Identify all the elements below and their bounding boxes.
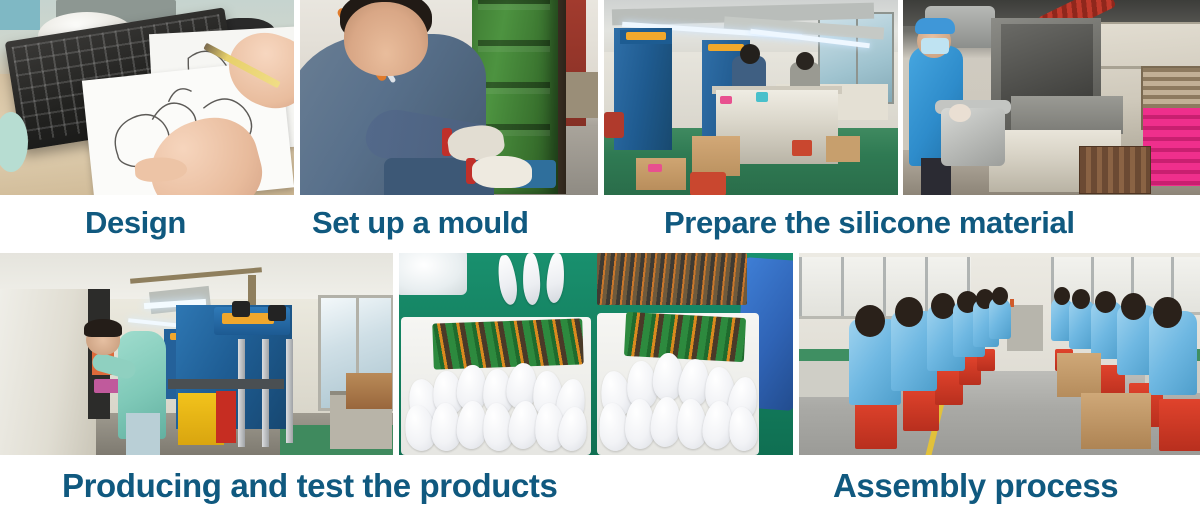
- operator-face-mask: [921, 38, 949, 54]
- monitor-screen-edge: [0, 0, 40, 30]
- photo-assembly-line[interactable]: [799, 253, 1200, 455]
- supply-cart: [1007, 305, 1043, 351]
- wooden-pallet: [346, 373, 392, 409]
- red-equipment: [604, 112, 624, 138]
- photo-producing-testing[interactable]: [0, 253, 393, 455]
- worker-head: [931, 293, 955, 319]
- cyan-part-bench: [756, 92, 768, 102]
- carton-near: [636, 158, 686, 190]
- caption-band-row1: Design Set up a mould Prepare the silico…: [0, 195, 1200, 253]
- machine-tray: [1011, 96, 1123, 134]
- worker-hair: [84, 319, 122, 337]
- worker-head: [1072, 289, 1090, 309]
- press-brand-plate-mid: [708, 44, 744, 51]
- red-stool: [903, 387, 939, 431]
- bag-of-shells: [399, 253, 467, 295]
- brown-stacked-trays: [1079, 146, 1151, 194]
- worker-head: [1054, 287, 1070, 305]
- pink-stacked-trays: [1143, 108, 1200, 186]
- caption-producing-and-test-the-products: Producing and test the products: [62, 467, 557, 505]
- press-platen: [168, 379, 284, 389]
- carton-far: [826, 136, 860, 162]
- caption-prepare-the-silicone-material: Prepare the silicone material: [664, 205, 1075, 241]
- pink-parts-floor: [648, 164, 662, 172]
- photo-finished-products[interactable]: [399, 253, 793, 455]
- stool-far: [792, 140, 812, 156]
- worker-head: [895, 297, 923, 327]
- caption-set-up-a-mould: Set up a mould: [312, 205, 529, 241]
- worker-head: [1153, 297, 1182, 328]
- circuit-boards-right: [624, 312, 746, 362]
- worker-head: [344, 2, 428, 76]
- worker-head: [1121, 293, 1146, 320]
- white-cabinet: [0, 289, 96, 455]
- photo-design[interactable]: [0, 0, 294, 195]
- caption-assembly-process: Assembly process: [833, 467, 1118, 505]
- press-rod-2: [262, 339, 269, 447]
- machine-window: [1001, 24, 1093, 104]
- carton-mid: [692, 136, 740, 176]
- circuit-boards-left: [432, 318, 584, 369]
- operator-hand: [949, 104, 971, 122]
- photo-set-up-mould[interactable]: [300, 0, 598, 195]
- cylinder-cap-2: [268, 305, 286, 321]
- red-stool: [855, 399, 897, 449]
- worker-1-head: [740, 44, 760, 64]
- red-stool: [1159, 399, 1200, 451]
- caption-band-row2: Producing and test the products Assembly…: [0, 455, 1200, 524]
- process-gallery: Design Set up a mould Prepare the silico…: [0, 0, 1200, 524]
- worker-head: [1095, 291, 1116, 313]
- cardboard-box-near: [1081, 393, 1151, 449]
- press-brand-plate-left: [626, 32, 666, 40]
- pcb-stack: [597, 253, 747, 305]
- caption-design: Design: [85, 205, 186, 241]
- pink-part-bench: [720, 96, 732, 104]
- photo-prepare-silicone[interactable]: [903, 0, 1200, 195]
- worker-head: [855, 305, 885, 337]
- press-rod-3: [286, 339, 293, 443]
- worker-legs: [126, 413, 160, 455]
- cylinder-cap-1: [232, 301, 250, 317]
- press-rod-1: [238, 339, 245, 447]
- worker-head: [992, 287, 1008, 305]
- red-stool: [690, 172, 726, 195]
- worker-2-head: [796, 52, 814, 70]
- work-glove-lower: [472, 156, 532, 188]
- photo-workshop-presses[interactable]: [604, 0, 898, 195]
- red-machine-part: [216, 391, 236, 443]
- cardboard-box-far: [1057, 353, 1101, 397]
- operator-cap: [915, 18, 955, 34]
